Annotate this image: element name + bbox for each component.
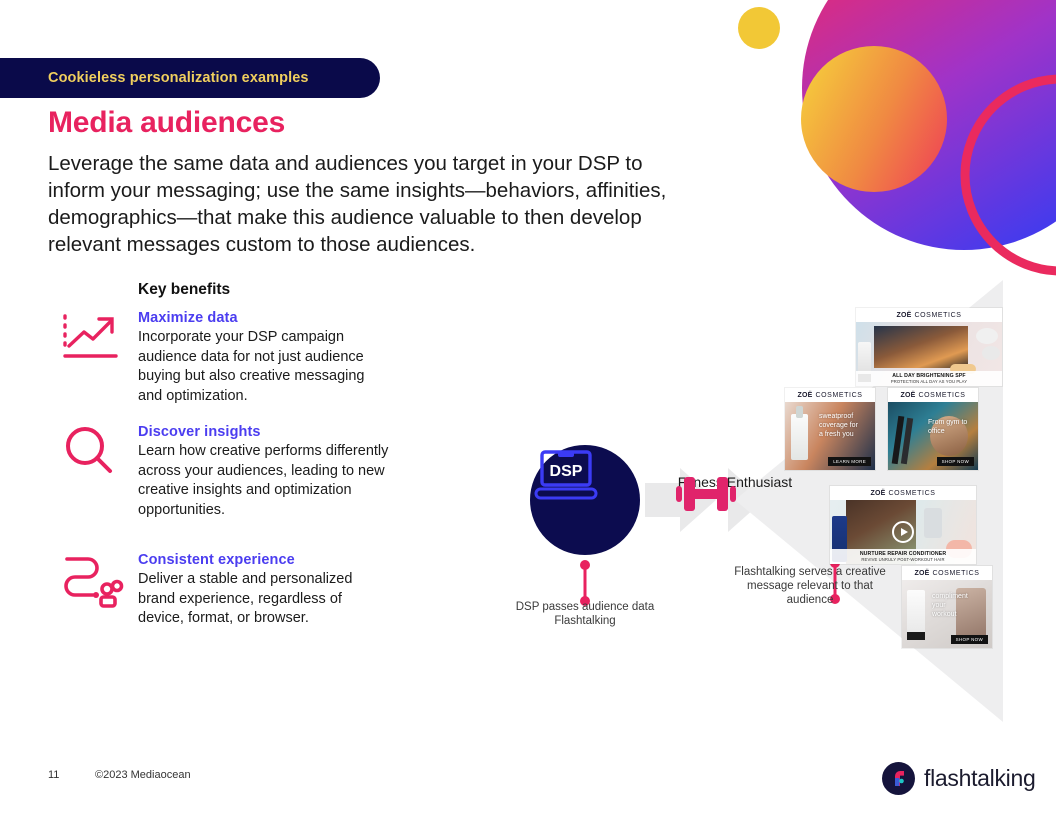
- ad-creative[interactable]: ZOË COSMETICS From gym to office SHOP NO…: [888, 388, 978, 470]
- ad-caption: From gym to office: [928, 418, 970, 436]
- benefit-title: Discover insights: [138, 424, 390, 440]
- play-icon[interactable]: [892, 521, 914, 543]
- intro-paragraph: Leverage the same data and audiences you…: [48, 150, 673, 258]
- ad-image: ALL DAY BRIGHTENING SPF PROTECTION ALL D…: [856, 322, 1002, 386]
- benefit-text: Incorporate your DSP campaign audience d…: [138, 328, 390, 406]
- ad-creative[interactable]: ZOË COSMETICS compliment your workout SH…: [902, 566, 992, 648]
- ad-creative[interactable]: ZOË COSMETICS sweatproof coverage for a …: [785, 388, 875, 470]
- flashtalking-mark-icon: [882, 762, 915, 795]
- yellow-dot: [738, 7, 780, 49]
- benefit-title: Consistent experience: [138, 552, 390, 568]
- page-title: Media audiences: [48, 106, 285, 140]
- slide: Cookieless personalization examples Medi…: [0, 0, 1056, 816]
- ad-image: sweatproof coverage for a fresh you LEAR…: [785, 402, 875, 470]
- page-number: 11: [48, 769, 59, 781]
- ad-cta-button[interactable]: SHOP NOW: [937, 457, 974, 466]
- flashtalking-caption: Flashtalking serves a creative message r…: [730, 565, 890, 607]
- ad-brand: ZOË COSMETICS: [888, 388, 978, 402]
- journey-audience-icon: [60, 552, 126, 610]
- ad-cta-button[interactable]: SHOP NOW: [951, 635, 988, 644]
- ad-caption: compliment your workout: [932, 592, 966, 619]
- ad-brand: ZOË COSMETICS: [830, 486, 976, 500]
- benefit-item: Discover insights Learn how creative per…: [60, 424, 390, 520]
- ad-brand: ZOË COSMETICS: [902, 566, 992, 580]
- dsp-caption: DSP passes audience data Flashtalking: [510, 600, 660, 628]
- eyebrow-badge: Cookieless personalization examples: [0, 58, 380, 98]
- ad-footer: ALL DAY BRIGHTENING SPF PROTECTION ALL D…: [856, 371, 1002, 386]
- benefit-item: Consistent experience Deliver a stable a…: [60, 552, 390, 629]
- flashtalking-logo: flashtalking: [882, 762, 1035, 795]
- key-benefits-heading: Key benefits: [138, 281, 230, 299]
- ad-creative[interactable]: ZOË COSMETICS NURTURE REPAIR CONDITIONER…: [830, 486, 976, 564]
- laptop-icon: DSP: [530, 445, 602, 505]
- ad-creative[interactable]: ZOË COSMETICS ALL DAY BRIGHTENING SPF PR…: [856, 308, 1002, 386]
- eyebrow-label: Cookieless personalization examples: [48, 70, 309, 86]
- ad-image: NURTURE REPAIR CONDITIONER REVIVE UNRULY…: [830, 500, 976, 564]
- growth-chart-icon: [60, 310, 126, 368]
- ad-footer: NURTURE REPAIR CONDITIONER REVIVE UNRULY…: [830, 549, 976, 564]
- copyright: ©2023 Mediaocean: [95, 769, 191, 781]
- benefit-text: Deliver a stable and personalized brand …: [138, 570, 390, 629]
- ad-caption: sweatproof coverage for a fresh you: [819, 412, 859, 439]
- ad-brand: ZOË COSMETICS: [785, 388, 875, 402]
- magnifier-icon: [60, 424, 126, 482]
- benefit-item: Maximize data Incorporate your DSP campa…: [60, 310, 390, 406]
- flashtalking-wordmark: flashtalking: [924, 765, 1035, 792]
- dumbbell-icon: [670, 470, 742, 518]
- dsp-node-label: DSP: [550, 463, 583, 480]
- ad-cta-button[interactable]: LEARN MORE: [828, 457, 871, 466]
- ad-image: From gym to office SHOP NOW: [888, 402, 978, 470]
- decorative-shapes: [716, 0, 1056, 280]
- persona-node: Fitness Enthusiast: [670, 470, 800, 491]
- ad-brand: ZOË COSMETICS: [856, 308, 1002, 322]
- flow-diagram: DSP DSP passes audience data Flashtalkin…: [480, 270, 1040, 740]
- ad-image: compliment your workout SHOP NOW: [902, 580, 992, 648]
- benefit-title: Maximize data: [138, 310, 390, 326]
- dsp-node: DSP: [530, 445, 640, 555]
- benefit-text: Learn how creative performs differently …: [138, 442, 390, 520]
